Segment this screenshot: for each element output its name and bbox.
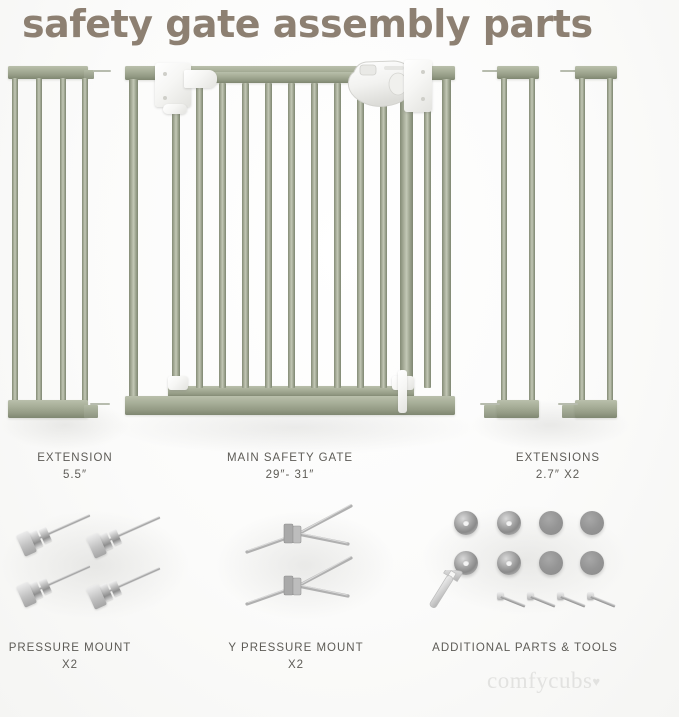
gate-bar xyxy=(288,83,295,388)
gate-bar xyxy=(334,83,341,388)
extension-narrow-bar xyxy=(529,78,535,403)
wall-cup-washer xyxy=(497,551,521,575)
wall-cup-washer xyxy=(454,511,478,535)
extension-bar xyxy=(36,78,42,403)
y-pressure-mount-bracket xyxy=(243,552,363,612)
wrench-icon xyxy=(424,570,484,622)
gate-bar xyxy=(219,83,226,388)
gate-latch-bracket xyxy=(404,60,432,112)
rubber-pad xyxy=(580,551,604,575)
caption-additional-parts: ADDITIONAL PARTS & TOOLS xyxy=(410,640,640,657)
latch-screw-hole xyxy=(421,70,425,74)
extension-bottom-pin xyxy=(90,403,110,405)
caption-title: PRESSURE MOUNT xyxy=(9,642,132,654)
infographic-page: safety gate assembly parts EXTENSION 5.5… xyxy=(0,0,679,717)
gate-bar xyxy=(424,83,431,388)
rubber-pad xyxy=(580,511,604,535)
gate-bar xyxy=(311,83,318,388)
extension-bottom-rail xyxy=(8,400,88,418)
caption-extensions-2-7: EXTENSIONS 2.7″ X2 xyxy=(478,450,638,484)
brand-logo: comfycubs♥ xyxy=(487,668,601,694)
rubber-pad xyxy=(539,511,563,535)
caption-title: EXTENSION xyxy=(37,452,112,464)
rubber-pad xyxy=(539,551,563,575)
y-mount-icon xyxy=(243,552,363,612)
gate-bar xyxy=(380,83,387,388)
caption-size: 2.7″ X2 xyxy=(478,467,638,484)
page-title: safety gate assembly parts xyxy=(22,2,593,46)
extension-bar xyxy=(82,78,88,403)
caption-extension-5-5: EXTENSION 5.5″ xyxy=(0,450,150,484)
extension-top-pin xyxy=(93,70,111,72)
extension-bar xyxy=(12,78,18,403)
wrench-tool xyxy=(424,570,484,622)
brand-mark: ♥ xyxy=(592,674,600,689)
gate-bar xyxy=(196,83,203,388)
caption-main-safety-gate: MAIN SAFETY GATE 29″- 31″ xyxy=(210,450,370,484)
caption-title: MAIN SAFETY GATE xyxy=(227,452,353,464)
y-pressure-mount-bracket xyxy=(243,500,363,560)
gate-door-post-left xyxy=(172,83,180,393)
extension-bottom-notch xyxy=(84,405,98,418)
caption-size: X2 xyxy=(216,657,376,674)
y-mount-icon xyxy=(243,500,363,560)
extension-narrow-bottom-rail xyxy=(575,400,617,418)
extension-narrow-bottom-rail xyxy=(497,400,539,418)
wall-cup-washer xyxy=(497,511,521,535)
hinge-screw-hole xyxy=(163,72,167,76)
gate-hinge-arm xyxy=(184,70,217,88)
caption-title: EXTENSIONS xyxy=(516,452,600,464)
caption-size: X2 xyxy=(0,657,140,674)
caption-y-pressure-mount: Y PRESSURE MOUNT X2 xyxy=(216,640,376,674)
gate-bar xyxy=(242,83,249,388)
extension-narrow-bar xyxy=(579,78,585,403)
gate-bar xyxy=(357,83,364,388)
gate-door-bottom-catch-left xyxy=(168,376,188,390)
gate-door-post-right xyxy=(400,83,413,393)
caption-title: Y PRESSURE MOUNT xyxy=(228,642,363,654)
latch-screw-hole xyxy=(421,97,425,101)
caption-title: ADDITIONAL PARTS & TOOLS xyxy=(432,642,618,654)
extension-top-rail xyxy=(8,66,88,79)
caption-pressure-mount: PRESSURE MOUNT X2 xyxy=(0,640,140,674)
extension-narrow-bottom-pin xyxy=(558,403,578,405)
extension-narrow-bar xyxy=(607,78,613,403)
caption-size: 29″- 31″ xyxy=(210,467,370,484)
gate-bar xyxy=(265,83,272,388)
gate-frame-post-left xyxy=(129,79,138,407)
extension-bar xyxy=(60,78,66,403)
brand-name: comfycubs xyxy=(487,668,592,693)
gate-bottom-lock-pin xyxy=(398,370,407,413)
gate-hinge-pin-housing xyxy=(163,104,187,114)
hinge-screw-hole xyxy=(163,96,167,100)
extension-narrow-bottom-pin xyxy=(480,403,500,405)
gate-frame-post-right xyxy=(442,79,451,407)
extension-narrow-bar xyxy=(501,78,507,403)
caption-size: 5.5″ xyxy=(0,467,150,484)
